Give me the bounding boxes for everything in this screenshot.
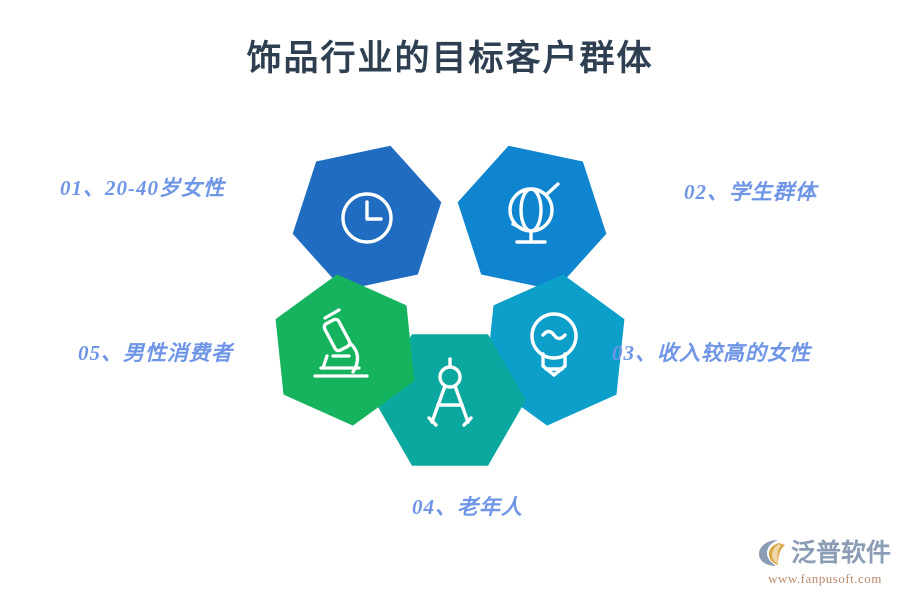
fanpu-logo-mark — [757, 538, 789, 568]
page-title: 饰品行业的目标客户群体 — [0, 30, 900, 81]
segment-label-05: 05、男性消费者 — [78, 337, 233, 367]
segment-label-02: 02、学生群体 — [684, 176, 817, 206]
logo-website-url: www.fanpusoft.com — [757, 571, 893, 587]
segment-label-03: 03、收入较高的女性 — [612, 337, 811, 367]
segment-label-01: 01、20-40岁女性 — [60, 172, 225, 202]
hexagon-segment-01[interactable] — [281, 128, 453, 311]
hexagon-segment-02[interactable] — [446, 128, 618, 311]
segment-label-04: 04、老年人 — [412, 491, 523, 521]
hexagon-shape-02 — [446, 128, 618, 311]
hexagon-rosette-diagram — [255, 128, 645, 478]
brand-logo[interactable]: 泛普软件 www.fanpusoft.com — [757, 536, 893, 588]
logo-company-name: 泛普软件 — [791, 541, 891, 566]
